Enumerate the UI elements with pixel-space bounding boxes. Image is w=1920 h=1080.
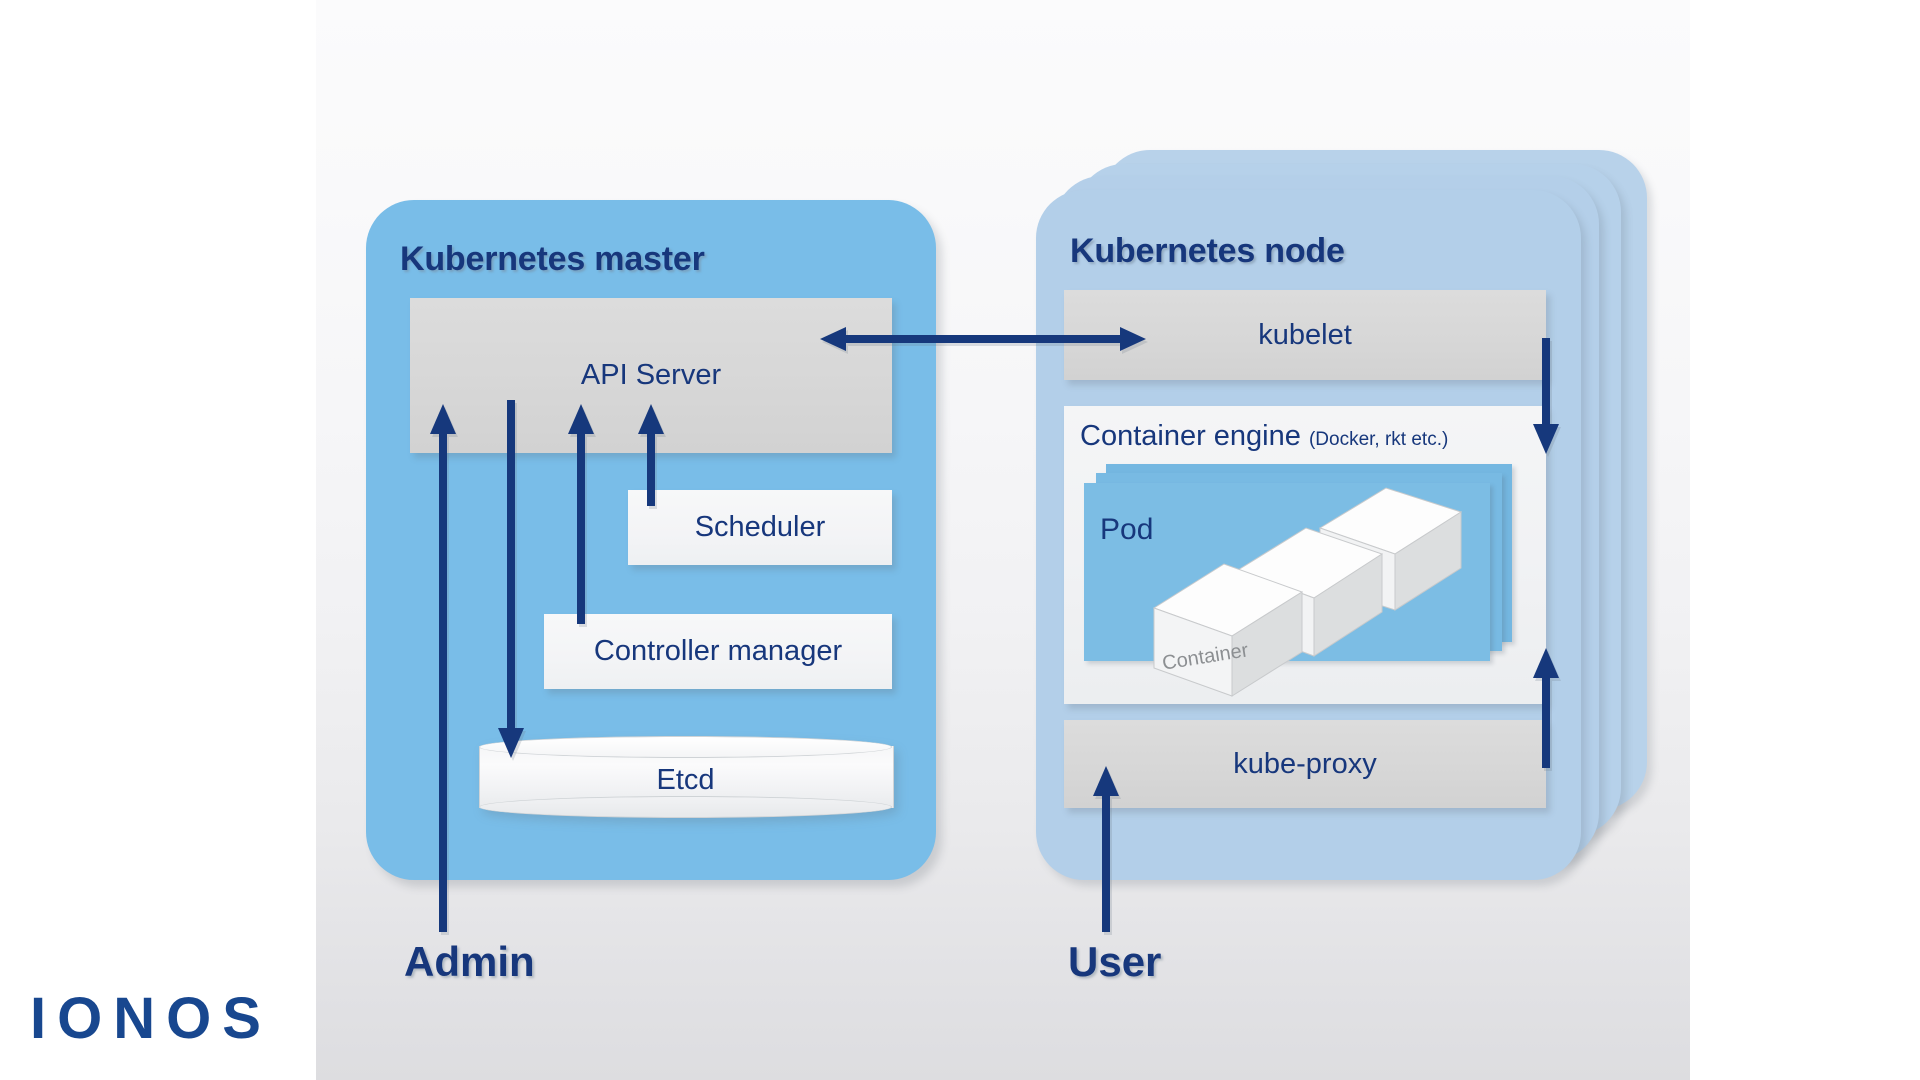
user-actor-label: User bbox=[1068, 938, 1161, 986]
arrow-api-server-to-etcd bbox=[500, 400, 534, 760]
container-engine-label: Container engine (Docker, rkt etc.) bbox=[1080, 420, 1448, 453]
container-cube-front[interactable]: Container bbox=[1146, 562, 1306, 702]
etcd-label: Etcd bbox=[479, 758, 892, 803]
arrow-user-to-kube-proxy bbox=[1095, 766, 1129, 934]
kubernetes-node-title: Kubernetes node bbox=[1070, 232, 1345, 271]
kube-proxy-box[interactable]: kube-proxy bbox=[1064, 720, 1546, 808]
container-engine-examples: (Docker, rkt etc.) bbox=[1309, 429, 1448, 450]
kubernetes-master-title: Kubernetes master bbox=[400, 240, 705, 279]
container-engine-name: Container engine bbox=[1080, 420, 1301, 452]
arrow-admin-to-api-server bbox=[432, 404, 466, 934]
etcd-cylinder-top-ellipse bbox=[479, 736, 892, 758]
arrow-api-server-kubelet bbox=[820, 325, 1150, 361]
arrow-scheduler-to-api-server bbox=[640, 404, 674, 508]
container-engine-box[interactable]: Container engine (Docker, rkt etc.) Pod bbox=[1064, 406, 1546, 704]
arrow-kube-proxy-to-pod bbox=[1535, 648, 1569, 770]
admin-actor-label: Admin bbox=[404, 938, 535, 986]
etcd-cylinder[interactable]: Etcd bbox=[479, 736, 892, 816]
pod-label: Pod bbox=[1100, 513, 1153, 547]
arrow-controller-manager-to-api-server bbox=[570, 404, 604, 626]
pod-stack: Pod bbox=[1084, 464, 1524, 679]
ionos-logo: IONOS bbox=[30, 985, 272, 1052]
slide-canvas: Kubernetes master Kubernetes node API Se… bbox=[0, 0, 1920, 1080]
arrow-kubelet-to-container-engine bbox=[1535, 338, 1569, 458]
